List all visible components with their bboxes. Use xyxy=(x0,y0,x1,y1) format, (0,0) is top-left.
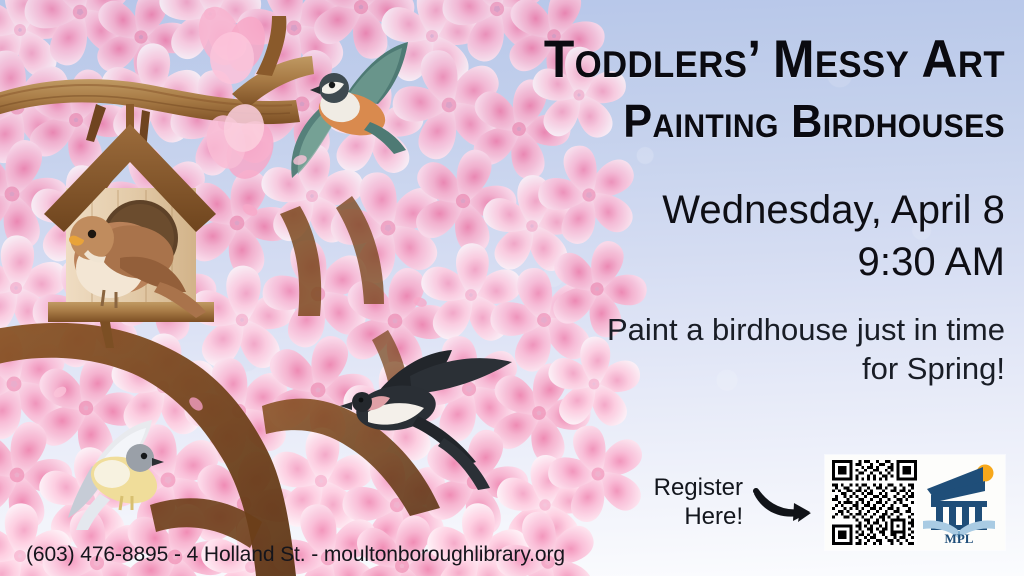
qr-logo-card: MPL xyxy=(825,455,1005,550)
register-section: Register Here! xyxy=(654,455,1005,550)
register-line-1: Register xyxy=(654,474,743,502)
event-description: Paint a birdhouse just in time for Sprin… xyxy=(605,311,1005,389)
logo-text: MPL xyxy=(945,531,974,545)
title-line-2: Painting Birdhouses xyxy=(441,98,1005,144)
page-title: Toddlers’ Messy Art Painting Birdhouses xyxy=(405,33,1005,144)
qr-code-icon[interactable] xyxy=(832,460,917,545)
event-datetime: Wednesday, April 8 9:30 AM xyxy=(405,188,1005,285)
title-line-1: Toddlers’ Messy Art xyxy=(441,33,1005,86)
flyer-canvas: Toddlers’ Messy Art Painting Birdhouses … xyxy=(0,0,1024,576)
register-line-2: Here! xyxy=(654,503,743,531)
curved-arrow-right-icon xyxy=(753,483,815,523)
event-date: Wednesday, April 8 xyxy=(405,188,1005,234)
register-label: Register Here! xyxy=(654,474,743,531)
mpl-library-logo: MPL xyxy=(921,461,999,545)
contact-footer: (603) 476-8895 - 4 Holland St. - moulton… xyxy=(26,543,565,567)
event-time: 9:30 AM xyxy=(405,240,1005,286)
